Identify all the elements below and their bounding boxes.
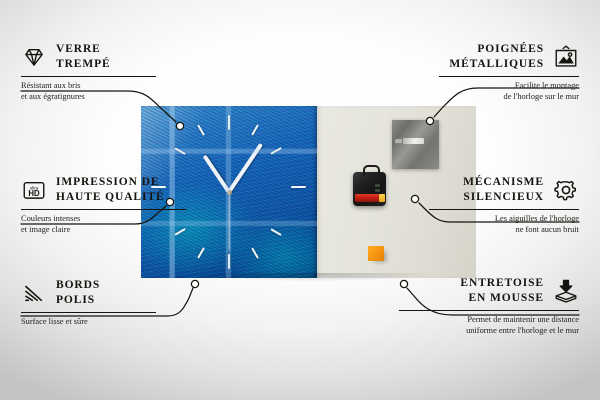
clock-minute-hand: [227, 143, 263, 193]
svg-text:HD: HD: [28, 189, 40, 198]
feature-sub-line1: Permet de maintenir une distance: [399, 314, 579, 325]
foam-spacer-arrow-icon: [553, 278, 579, 304]
feature-title-line2: HAUTE QUALITÉ: [56, 190, 165, 205]
feature-sub-line2: et aux égratignures: [21, 91, 161, 102]
feature-impression-haute-qualite[interactable]: ultra HD IMPRESSION DE HAUTE QUALITÉ Cou…: [21, 175, 191, 235]
feature-title-line2: EN MOUSSE: [460, 291, 544, 306]
feature-sub-line2: et image claire: [21, 224, 191, 235]
feature-sub-line1: Facilite le montage: [439, 80, 579, 91]
gear-icon: [553, 177, 579, 203]
feature-title-line2: MÉTALLIQUES: [449, 57, 544, 72]
infographic-canvas: VERRE TREMPÉ Résistant aux bris et aux é…: [0, 0, 600, 400]
feature-title-line2: TREMPÉ: [56, 57, 111, 72]
feature-sub-line1: Résistant aux bris: [21, 80, 161, 91]
feature-entretoise-en-mousse[interactable]: ENTRETOISE EN MOUSSE Permet de maintenir…: [399, 276, 579, 336]
hanger-slot: [403, 138, 424, 144]
feature-title-line1: BORDS: [56, 278, 100, 293]
feature-title-line2: POLIS: [56, 293, 100, 308]
feature-sub-line2: de l'horloge sur le mur: [439, 91, 579, 102]
feature-sub-line1: Couleurs intenses: [21, 213, 191, 224]
metal-hanger: [392, 120, 439, 169]
feature-rule: [439, 76, 579, 77]
feature-title-line1: MÉCANISME: [463, 175, 544, 190]
feature-bords-polis[interactable]: BORDS POLIS Surface lisse et sûre: [21, 278, 161, 327]
clock-tick-7: [197, 247, 205, 259]
diamond-icon: [21, 44, 47, 70]
foam-spacer: [368, 246, 384, 261]
clock-tick-11: [197, 124, 205, 136]
clock-hour-hand: [203, 154, 231, 193]
feature-title-line1: ENTRETOISE: [460, 276, 544, 291]
clock-mechanism: [353, 172, 386, 206]
feature-sub-line1: Surface lisse et sûre: [21, 316, 161, 327]
feature-title-line1: IMPRESSION DE: [56, 175, 165, 190]
feature-title-line2: SILENCIEUX: [463, 190, 544, 205]
feature-rule: [429, 209, 579, 210]
feature-title-line1: POIGNÉES: [449, 42, 544, 57]
product-image: [141, 106, 476, 278]
picture-frame-hanger-icon: [553, 44, 579, 70]
clock-tick-4: [270, 228, 282, 236]
mechanism-loop: [363, 165, 380, 176]
feature-sub-line2: ne font aucun bruit: [429, 224, 579, 235]
feature-sub-line2: uniforme entre l'horloge et le mur: [399, 325, 579, 336]
feature-poignees-metalliques[interactable]: POIGNÉES MÉTALLIQUES Facilite le montage…: [439, 42, 579, 102]
feature-mecanisme-silencieux[interactable]: MÉCANISME SILENCIEUX Les aiguilles de l'…: [429, 175, 579, 235]
ultra-hd-icon: ultra HD: [21, 177, 47, 203]
feature-verre-trempe[interactable]: VERRE TREMPÉ Résistant aux bris et aux é…: [21, 42, 161, 102]
clock-tick-10: [174, 147, 186, 155]
clock-tick-1: [251, 124, 259, 136]
feature-rule: [21, 209, 187, 210]
feature-rule: [399, 310, 579, 311]
mechanism-contact-a: [375, 184, 380, 187]
clock-second-hand: [228, 192, 229, 250]
clock-tick-12: [228, 115, 230, 130]
battery-plus-terminal: [379, 194, 385, 202]
battery: [355, 194, 382, 202]
feature-title-line1: VERRE: [56, 42, 111, 57]
feature-sub-line1: Les aiguilles de l'horloge: [429, 213, 579, 224]
polished-edge-icon: [21, 280, 47, 306]
mechanism-contact-b: [375, 189, 380, 192]
clock-tick-2: [270, 147, 282, 155]
clock-tick-6: [228, 254, 230, 269]
feature-rule: [21, 76, 156, 77]
clock-tick-3: [291, 186, 306, 188]
feature-rule: [21, 312, 156, 313]
clock-tick-5: [251, 247, 259, 259]
clock-center-cap: [227, 190, 232, 195]
